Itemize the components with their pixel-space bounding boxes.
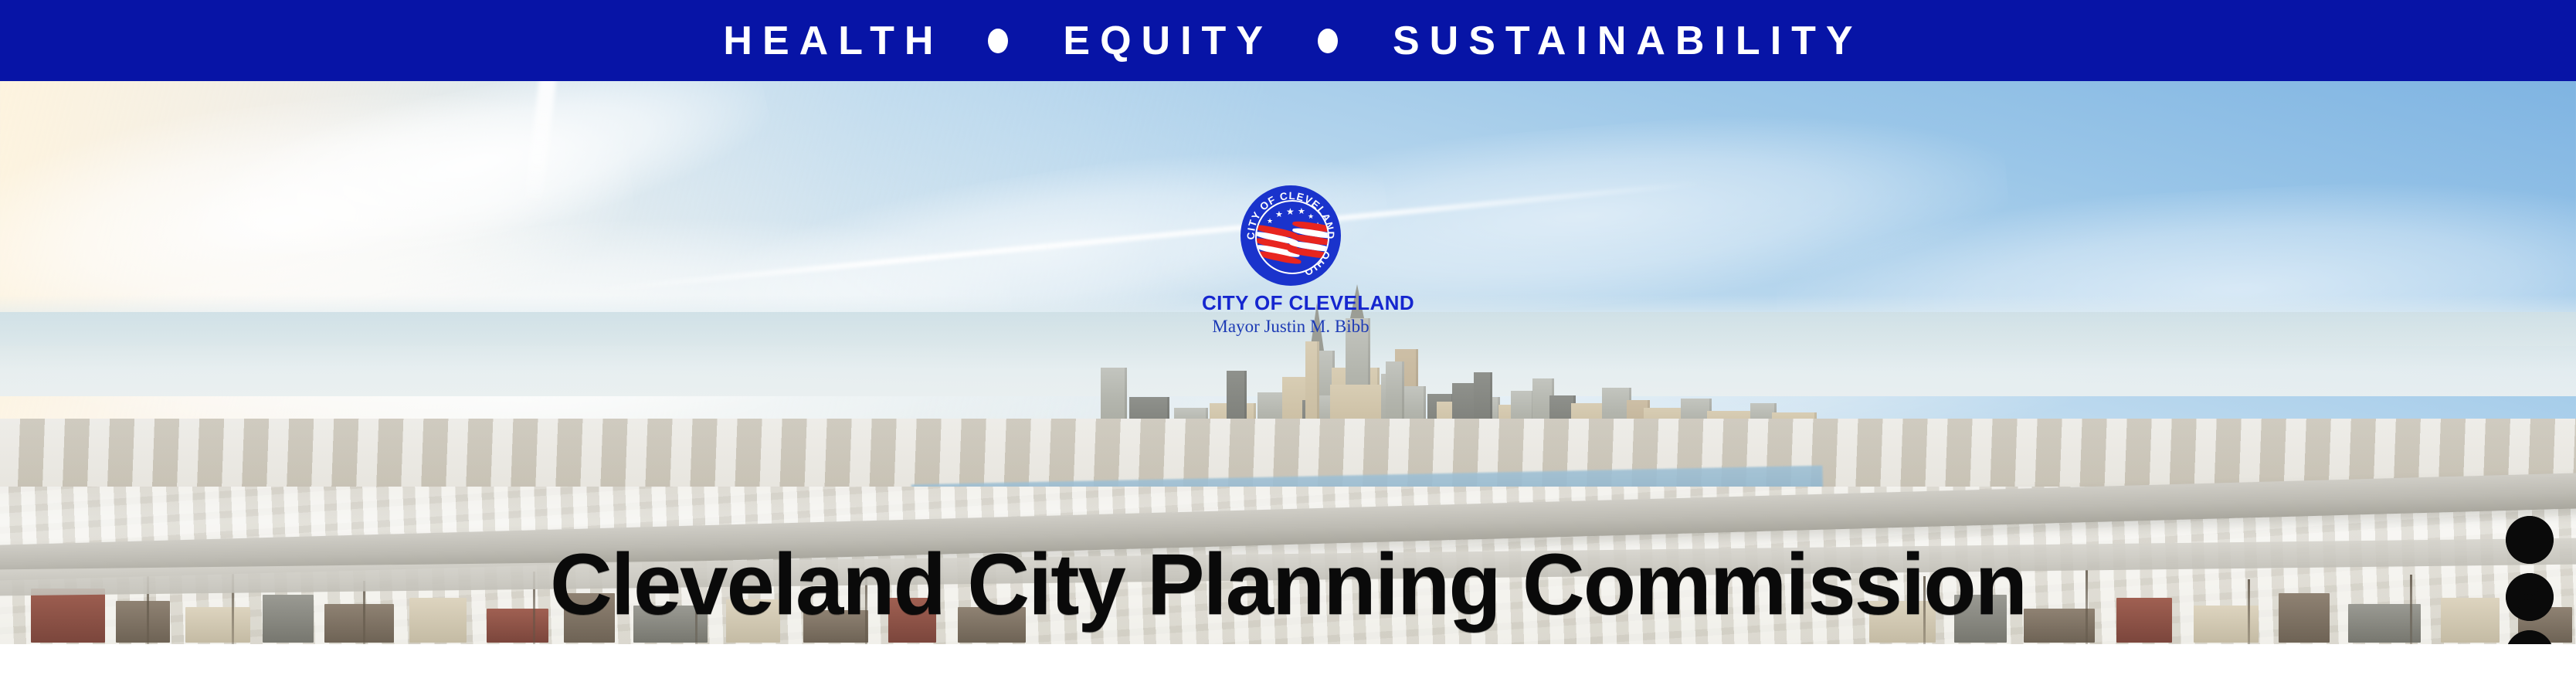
bullet-dot-icon [1318, 29, 1338, 53]
hero-banner: CITY OF CLEVELAND OHIO ★ ★ ★ ★ ★ ★ [0, 81, 2576, 644]
instagram-icon[interactable] [2506, 573, 2554, 621]
youtube-icon[interactable] [2506, 516, 2554, 564]
mayor-name-label: Mayor Justin M. Bibb [1202, 317, 1380, 336]
page-root: HEALTH EQUITY SUSTAINABILITY [0, 0, 2576, 682]
tagline-banner: HEALTH EQUITY SUSTAINABILITY [0, 0, 2576, 81]
page-title: Cleveland City Planning Commission [0, 541, 2576, 628]
social-links-rail [2505, 516, 2554, 644]
facebook-icon[interactable] [2506, 630, 2554, 644]
city-of-cleveland-seal-icon: CITY OF CLEVELAND OHIO ★ ★ ★ ★ ★ ★ [1240, 185, 1341, 286]
tagline-word-sustainability: SUSTAINABILITY [1383, 21, 1863, 61]
city-logo-block[interactable]: CITY OF CLEVELAND OHIO ★ ★ ★ ★ ★ ★ [1202, 185, 1380, 337]
bullet-dot-icon [988, 29, 1008, 53]
seal-flag-emblem: ★ ★ ★ ★ ★ ★ [1255, 200, 1329, 274]
tagline-word-health: HEALTH [713, 21, 943, 61]
tagline-word-equity: EQUITY [1053, 21, 1273, 61]
org-name-label: CITY OF CLEVELAND [1202, 293, 1380, 314]
